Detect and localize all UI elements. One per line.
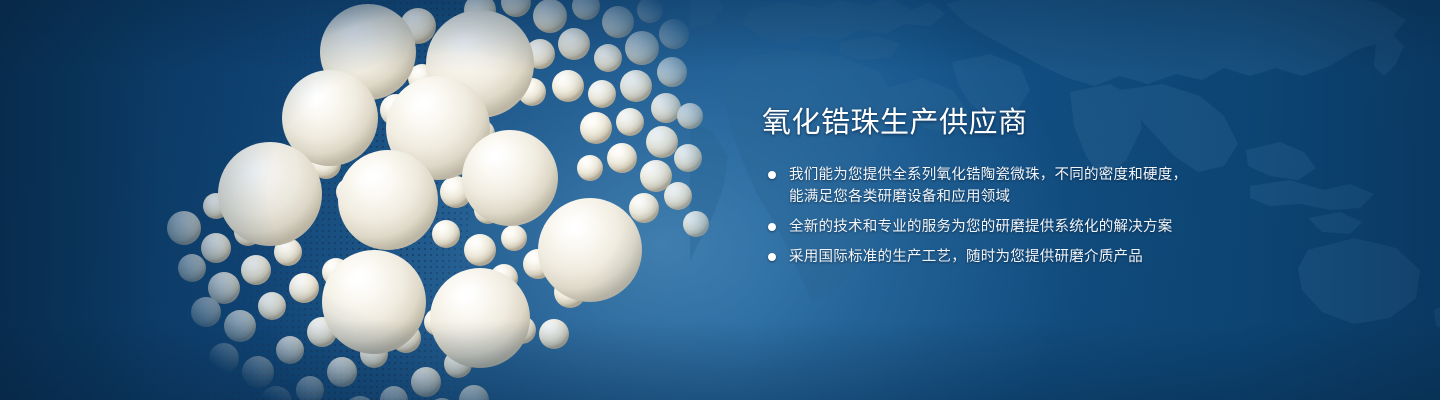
hero-banner: 氧化锆珠生产供应商 我们能为您提供全系列氧化锆陶瓷微珠，不同的密度和硬度， 能满… — [0, 0, 1440, 400]
banner-content: 氧化锆珠生产供应商 我们能为您提供全系列氧化锆陶瓷微珠，不同的密度和硬度， 能满… — [762, 104, 1322, 268]
bullet-dot-icon — [768, 253, 776, 261]
bullet-item-1: 我们能为您提供全系列氧化锆陶瓷微珠，不同的密度和硬度， 能满足您各类研磨设备和应… — [762, 164, 1209, 208]
bullet-1-line-1: 我们能为您提供全系列氧化锆陶瓷微珠，不同的密度和硬度， — [789, 164, 1209, 186]
bullet-dot-icon — [768, 223, 776, 231]
bullet-1-line-2: 能满足您各类研磨设备和应用领域 — [789, 186, 1209, 208]
banner-headline: 氧化锆珠生产供应商 — [762, 104, 1322, 142]
bullet-2-line-1: 全新的技术和专业的服务为您的研磨提供系统化的解决方案 — [789, 216, 1209, 238]
bullet-item-2: 全新的技术和专业的服务为您的研磨提供系统化的解决方案 — [762, 216, 1209, 238]
bullet-3-line-1: 采用国际标准的生产工艺，随时为您提供研磨介质产品 — [789, 246, 1209, 268]
bullet-item-3: 采用国际标准的生产工艺，随时为您提供研磨介质产品 — [762, 246, 1209, 268]
banner-bullet-list: 我们能为您提供全系列氧化锆陶瓷微珠，不同的密度和硬度， 能满足您各类研磨设备和应… — [762, 164, 1322, 268]
bullet-dot-icon — [768, 171, 776, 179]
